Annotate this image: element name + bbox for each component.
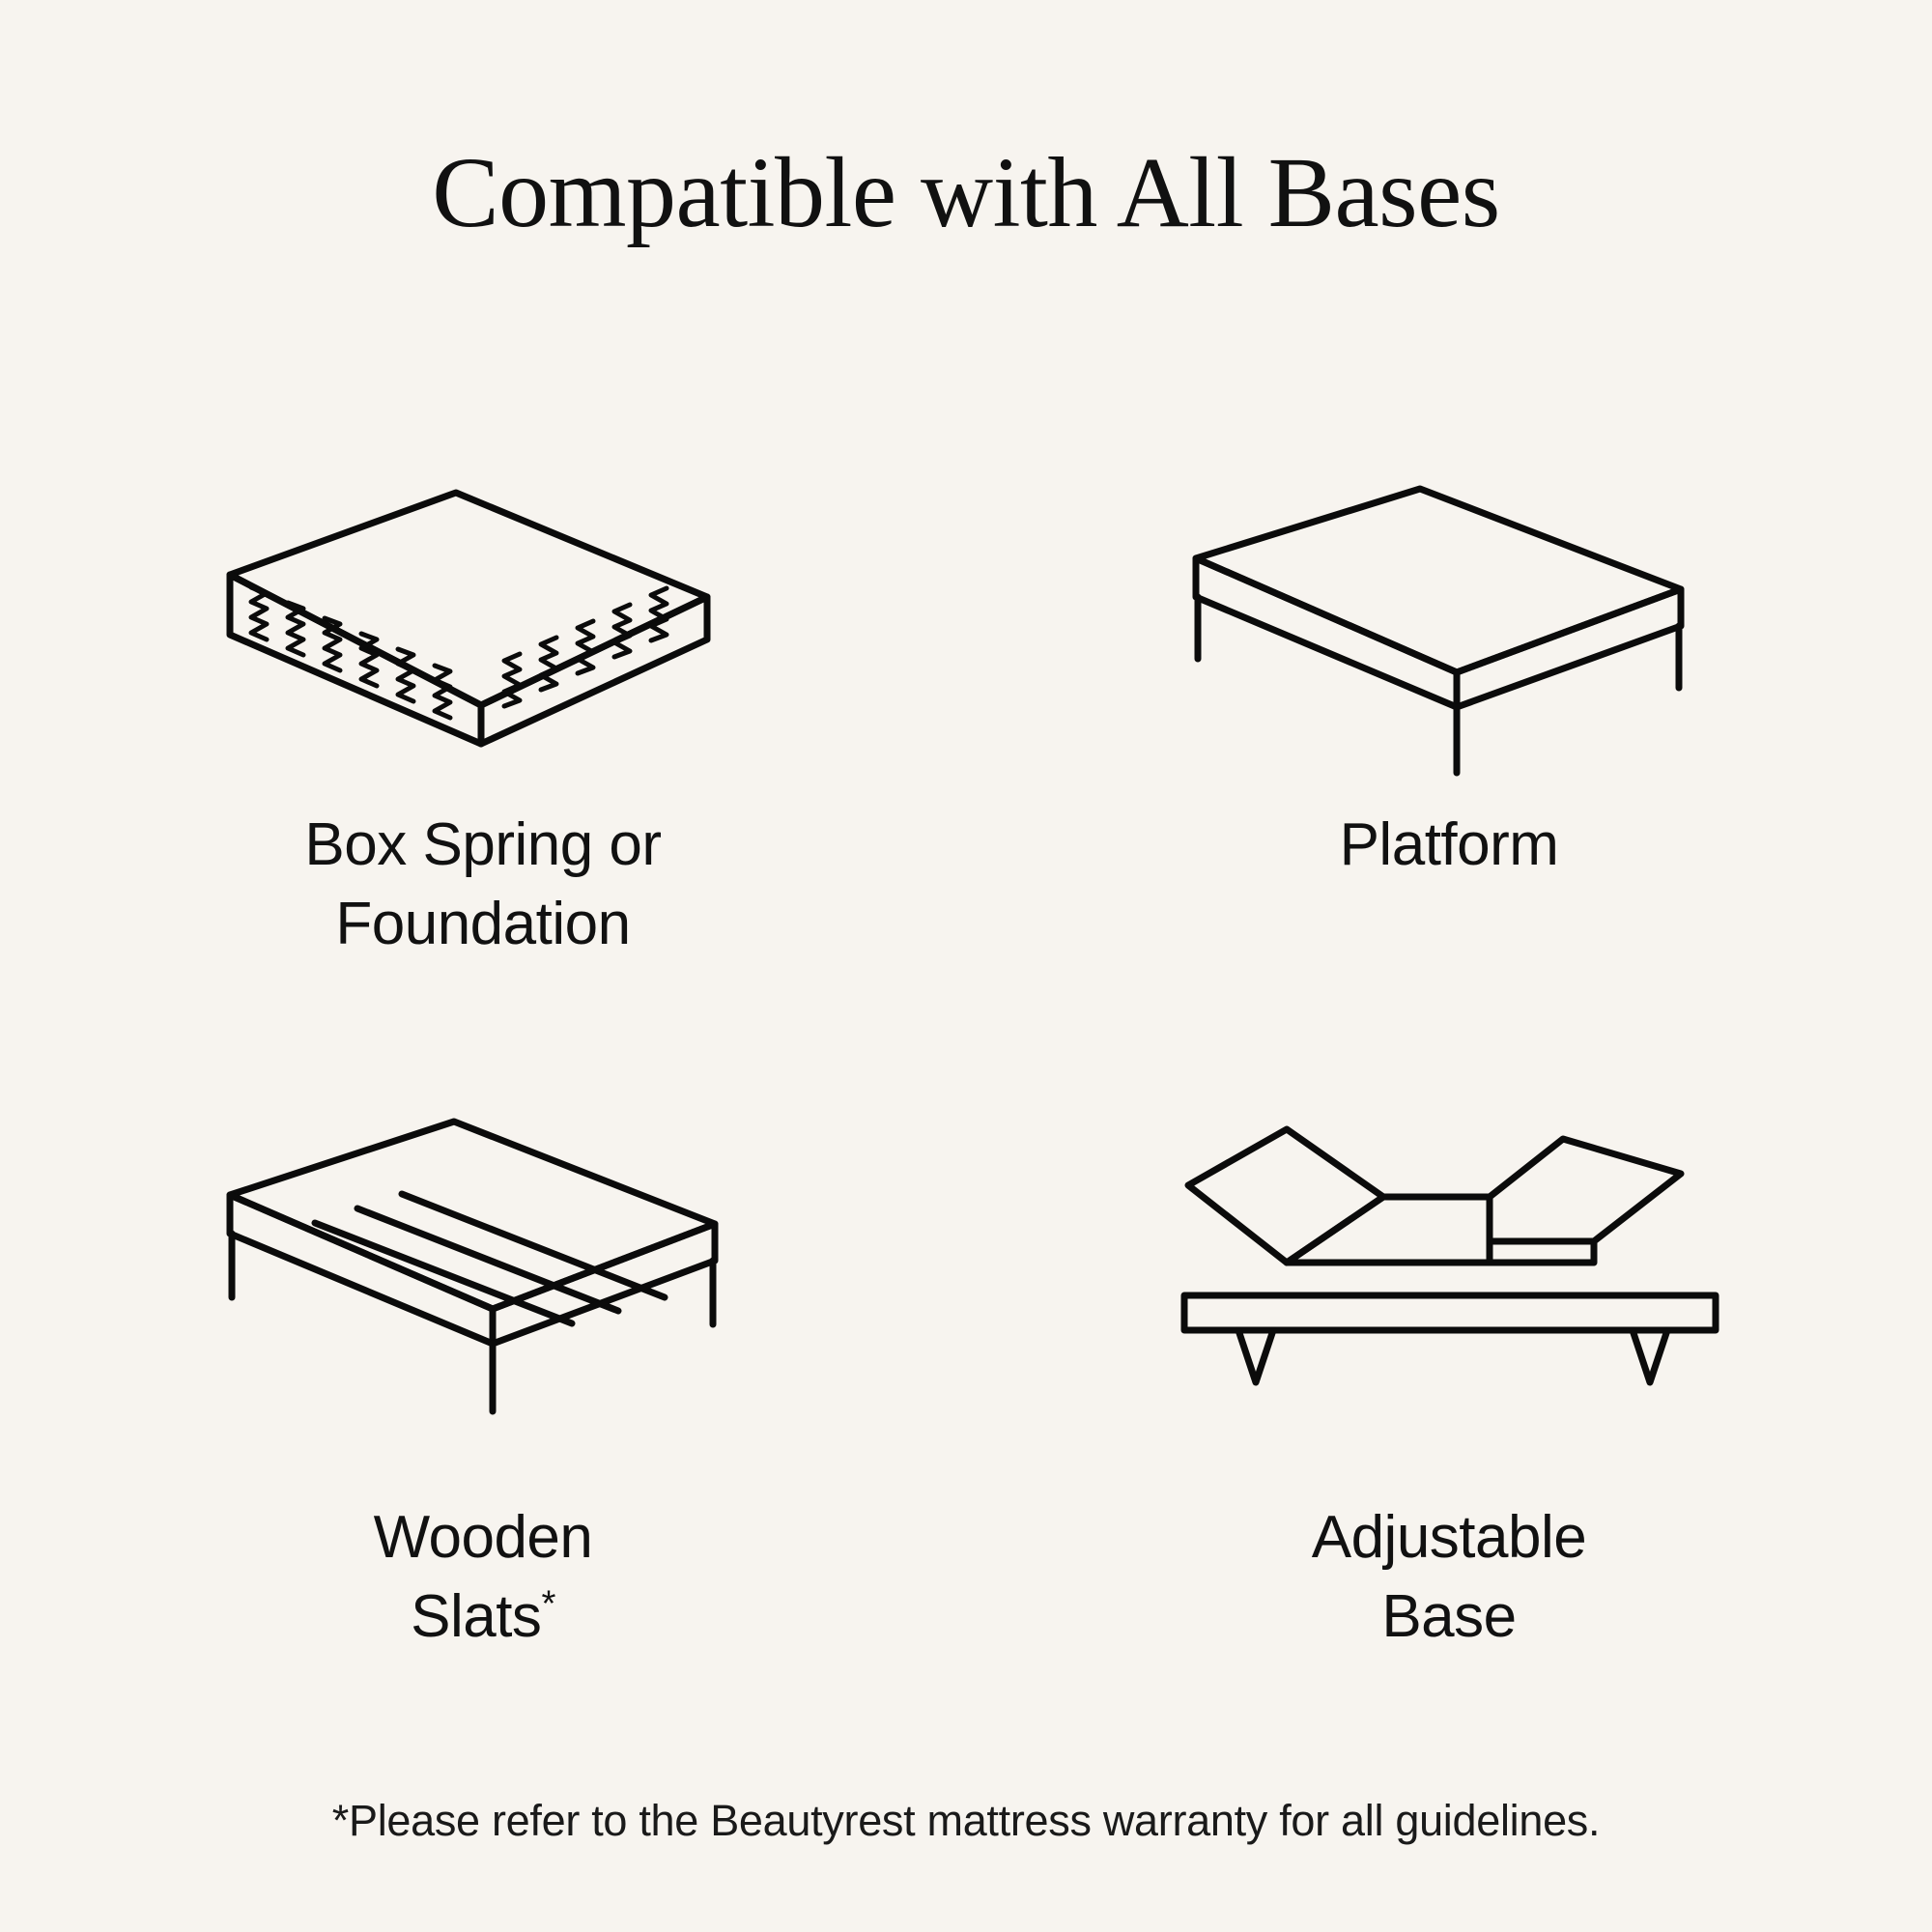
wooden-slats-illustration — [0, 1096, 966, 1415]
head-panel — [1188, 1129, 1383, 1263]
foot-right — [1633, 1330, 1667, 1382]
compatibility-infographic: Compatible with All Bases — [0, 0, 1932, 1932]
base-label-line1: Wooden — [374, 1498, 593, 1577]
platform-bed-icon — [1196, 489, 1681, 773]
footnote-marker: * — [541, 1582, 554, 1624]
coil-springs-right — [504, 588, 667, 706]
base-platform — [1184, 1295, 1716, 1330]
slat-line-2 — [357, 1208, 618, 1311]
base-card-platform: Platform — [966, 454, 1932, 1096]
base-card-box-spring: Box Spring or Foundation — [0, 454, 966, 1096]
base-label-platform: Platform — [1340, 806, 1559, 885]
base-label-line2: Slats — [411, 1583, 541, 1650]
box-spring-illustration — [0, 454, 966, 773]
base-label-line2-wrap: Slats* — [374, 1577, 593, 1657]
base-label-line1: Platform — [1340, 806, 1559, 885]
wooden-slats-icon — [230, 1122, 715, 1411]
base-label-line1: Adjustable — [1312, 1498, 1587, 1577]
seat-panel — [1287, 1197, 1490, 1263]
page-title: Compatible with All Bases — [0, 143, 1932, 243]
base-label-line2: Base — [1312, 1577, 1587, 1657]
base-label-wooden-slats: Wooden Slats* — [374, 1498, 593, 1657]
footnote-text: *Please refer to the Beautyrest mattress… — [0, 1795, 1932, 1847]
adjustable-base-illustration — [966, 1096, 1932, 1415]
platform-illustration — [966, 454, 1932, 773]
base-label-line2: Foundation — [304, 885, 661, 964]
coil-springs-left — [251, 587, 450, 718]
bases-grid: Box Spring or Foundation — [0, 454, 1932, 1739]
foot-left — [1238, 1330, 1273, 1382]
slat-line-3 — [402, 1194, 665, 1297]
adjustable-base-icon — [1184, 1129, 1716, 1382]
base-label-adjustable: Adjustable Base — [1312, 1498, 1587, 1657]
base-card-wooden-slats: Wooden Slats* — [0, 1096, 966, 1739]
slat-line-1 — [315, 1223, 572, 1323]
base-label-line1: Box Spring or — [304, 806, 661, 885]
leg-panel — [1490, 1139, 1681, 1241]
base-card-adjustable: Adjustable Base — [966, 1096, 1932, 1739]
box-spring-icon — [230, 493, 707, 744]
base-label-box-spring: Box Spring or Foundation — [304, 806, 661, 964]
